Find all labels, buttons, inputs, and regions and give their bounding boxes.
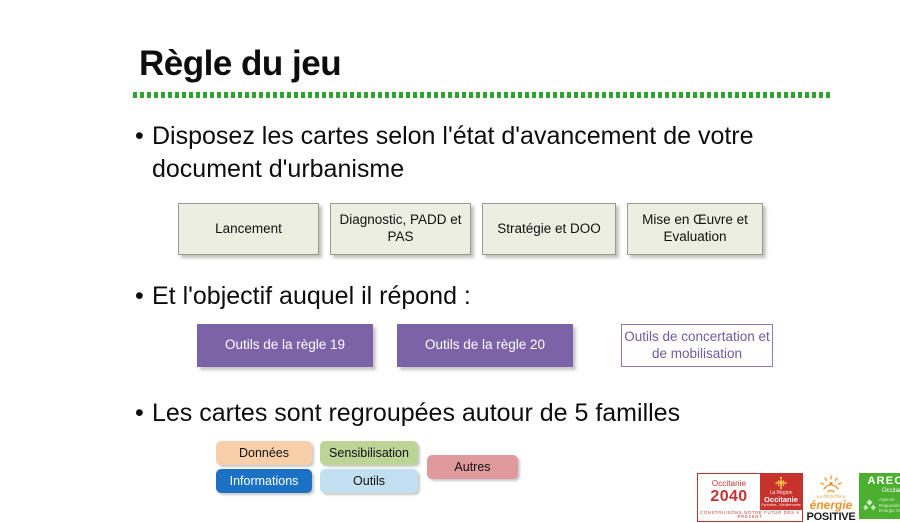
page-title: Règle du jeu <box>139 46 341 83</box>
arec-logo-body: Agence Régionale Energie Climat <box>859 497 900 514</box>
stage-card-lancement[interactable]: Lancement <box>178 203 319 255</box>
bullet-marker-icon: • <box>135 397 152 430</box>
occitanie-logo-year: 2040 <box>710 489 747 505</box>
region-subtitle: Pyrénées - Méditerranée <box>761 504 801 508</box>
arec-descriptor: Agence Régionale Energie Climat <box>879 497 900 514</box>
stage-card-diagnostic[interactable]: Diagnostic, PADD et PAS <box>330 203 471 255</box>
slide-canvas: Règle du jeu • Disposez les cartes selon… <box>0 0 900 523</box>
arec-occitanie-logo: AREC Occitanie Agence Régionale Energ <box>859 473 900 519</box>
energie-positive-logo: La RÉGION à énergie POSITIVE <box>809 473 853 523</box>
family-tag-sensibilisation[interactable]: Sensibilisation <box>320 441 418 465</box>
bullet-text-1: Disposez les cartes selon l'état d'avanc… <box>152 120 785 185</box>
bullet-item-3: • Les cartes sont regroupées autour de 5… <box>135 397 735 430</box>
objective-card-row: Outils de la règle 19 Outils de la règle… <box>197 324 773 367</box>
occitanie-logo-wordmark: Occitanie 2040 <box>698 474 760 510</box>
stage-card-mise-en-oeuvre[interactable]: Mise en Œuvre et Evaluation <box>627 203 763 255</box>
region-label: La Région <box>770 491 793 496</box>
bullet-marker-icon: • <box>135 120 152 153</box>
bullet-text-3: Les cartes sont regroupées autour de 5 f… <box>152 397 680 430</box>
family-tag-informations[interactable]: Informations <box>216 469 312 493</box>
objective-card-concertation[interactable]: Outils de concertation et de mobilisatio… <box>621 324 773 367</box>
occitan-cross-icon <box>773 476 789 490</box>
stage-card-strategie[interactable]: Stratégie et DOO <box>482 203 616 255</box>
stage-card-row: Lancement Diagnostic, PADD et PAS Straté… <box>178 203 763 255</box>
logo-strip: Occitanie 2040 <box>697 473 900 523</box>
family-tag-outils[interactable]: Outils <box>320 469 418 493</box>
bullet-item-2: • Et l'objectif auquel il répond : <box>135 280 655 313</box>
family-tag-donnees[interactable]: Données <box>216 441 312 465</box>
bullet-text-2: Et l'objectif auquel il répond : <box>152 280 471 313</box>
arec-region: Occitanie <box>882 488 900 494</box>
arec-name: AREC <box>868 476 900 487</box>
arec-leaf-icon <box>863 499 876 512</box>
occitanie-logo-tagline: CONSTRUISONS NOTRE FUTUR DÈS À PRÉSENT <box>698 510 802 521</box>
occitanie-logo-word: Occitanie <box>712 480 746 488</box>
region-occitanie-badge: La Région Occitanie Pyrénées - Méditerra… <box>760 474 802 510</box>
arec-line-3: Energie Climat <box>879 508 900 514</box>
bullet-marker-icon: • <box>135 280 152 313</box>
occitanie-2040-logo: Occitanie 2040 <box>697 473 803 522</box>
energie-word: énergie <box>810 499 853 512</box>
sun-burst-icon <box>816 474 846 494</box>
title-divider <box>133 92 830 98</box>
bullet-item-1: • Disposez les cartes selon l'état d'ava… <box>135 120 785 185</box>
positive-word: POSITIVE <box>806 512 855 523</box>
occitanie-logo-main: Occitanie 2040 <box>698 474 802 510</box>
objective-card-regle-20[interactable]: Outils de la règle 20 <box>397 324 573 367</box>
family-tag-autres[interactable]: Autres <box>427 455 518 479</box>
objective-card-regle-19[interactable]: Outils de la règle 19 <box>197 324 373 367</box>
